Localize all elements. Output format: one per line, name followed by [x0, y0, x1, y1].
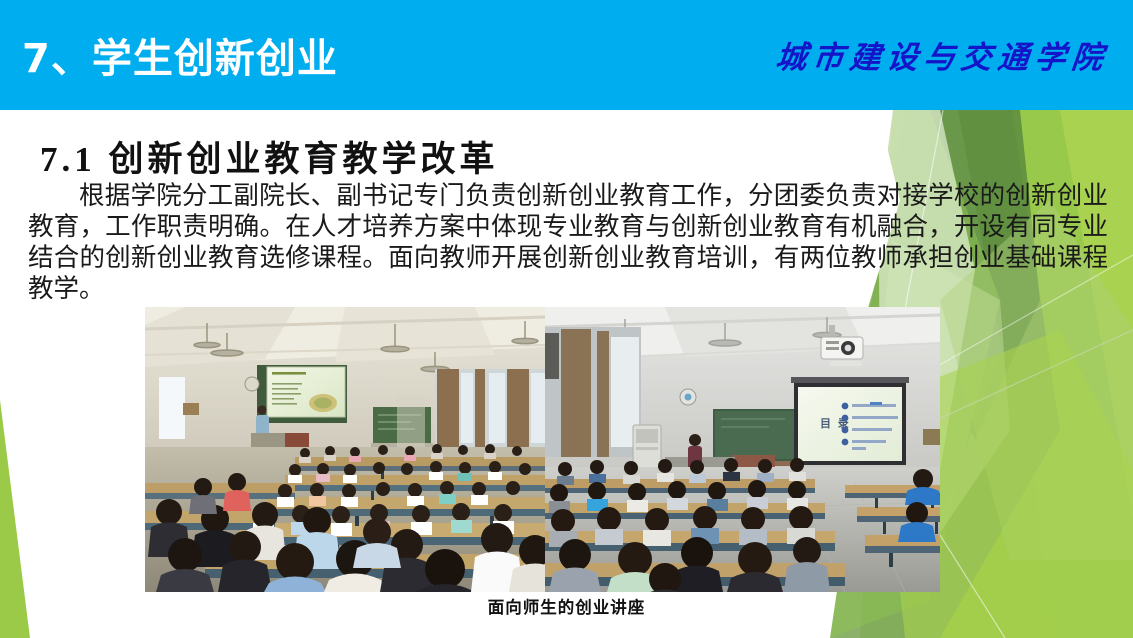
slide-root: 7、学生创新创业 城市建设与交通学院 7.1 创新创业教育教学改革 根据学院分工… [0, 0, 1133, 638]
body-paragraph: 根据学院分工副院长、副书记专门负责创新创业教育工作，分团委负责对接学校的创新创业… [28, 180, 1108, 304]
photo-left-lecture-hall [145, 307, 545, 592]
page-title: 7、学生创新创业 [22, 26, 338, 84]
organization-name: 城市建设与交通学院 [774, 32, 1112, 77]
body-paragraph-block: 根据学院分工副院长、副书记专门负责创新创业教育工作，分团委负责对接学校的创新创业… [28, 180, 1108, 304]
photo-strip: 目 录 [145, 307, 940, 592]
section-heading: 7.1 创新创业教育教学改革 [40, 131, 499, 182]
photo-caption: 面向师生的创业讲座 [0, 594, 1133, 618]
photo-right-lecture-hall: 目 录 [545, 307, 940, 592]
